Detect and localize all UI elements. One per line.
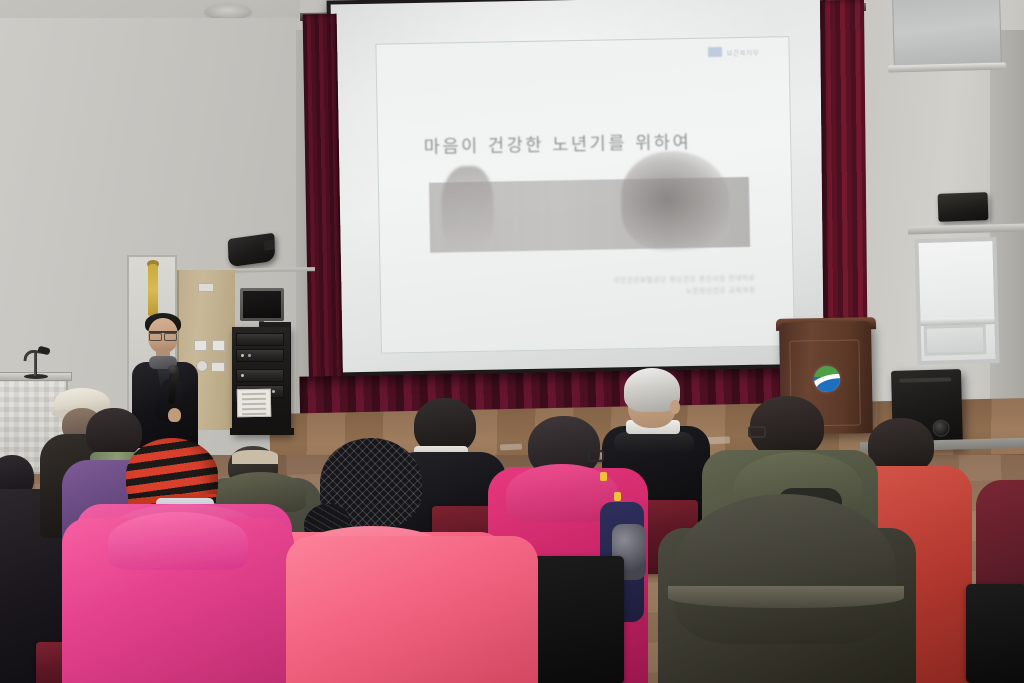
ceiling-light-icon bbox=[205, 5, 251, 18]
jacket-toggle bbox=[600, 472, 607, 481]
organization-emblem-icon bbox=[814, 366, 840, 392]
attendee-salmon-front bbox=[286, 536, 536, 683]
notice-sheet bbox=[237, 389, 271, 418]
attendee-pink-puffer bbox=[62, 506, 292, 683]
rack-base bbox=[230, 428, 294, 435]
slide-logo: 보건복지부 bbox=[707, 46, 759, 58]
curtain-left-panel bbox=[303, 14, 344, 407]
attendee-hood bbox=[108, 512, 248, 570]
slide-figure-right bbox=[620, 150, 731, 251]
slide-subtext: 국민건강보험공단 정신건강 증진사업 안내자료 노인정신건강 교육과정 bbox=[613, 272, 755, 299]
glasses-icon bbox=[149, 331, 177, 337]
window-lower-pane bbox=[924, 324, 987, 356]
slide-logo-text: 보건복지부 bbox=[726, 46, 759, 57]
roller-blind[interactable] bbox=[892, 0, 1002, 69]
glasses-icon bbox=[588, 450, 604, 462]
chair-front-dark[interactable] bbox=[966, 584, 1024, 683]
quilted-bucket-hat bbox=[674, 494, 896, 644]
speaker-grille-strip bbox=[899, 377, 951, 382]
standing-attendee-ear bbox=[670, 400, 680, 414]
slide-subtext-line-2: 노인정신건강 교육과정 bbox=[613, 284, 755, 299]
slide-logo-mark-icon bbox=[707, 47, 722, 58]
wall-monitor bbox=[240, 288, 284, 321]
attendee-quilted-hat bbox=[658, 494, 918, 683]
window bbox=[914, 237, 999, 365]
rack-indicator bbox=[241, 374, 244, 377]
projection-screen: 보건복지부 마음이 건강한 노년기를 위하여 국민건강보험공단 정신건강 증진사… bbox=[327, 0, 834, 383]
door-sign bbox=[198, 283, 214, 292]
alcove-yellow-object bbox=[148, 264, 158, 316]
av-rack bbox=[232, 327, 290, 435]
rack-indicator bbox=[241, 354, 244, 357]
monitor-screen bbox=[243, 291, 281, 318]
rack-indicator bbox=[248, 354, 251, 357]
speaker-bracket bbox=[263, 239, 274, 250]
presentation-slide: 보건복지부 마음이 건강한 노년기를 위하여 국민건강보험공단 정신건강 증진사… bbox=[376, 37, 795, 354]
glasses-icon bbox=[748, 426, 766, 438]
attendee-body bbox=[286, 536, 538, 683]
lecture-hall-photo: 보건복지부 마음이 건강한 노년기를 위하여 국민건강보험공단 정신건강 증진사… bbox=[0, 0, 1024, 683]
hat-brim bbox=[668, 586, 904, 608]
jacket-toggle bbox=[614, 492, 621, 501]
rack-unit[interactable] bbox=[236, 333, 284, 346]
wall-speaker-icon bbox=[938, 192, 989, 222]
screen-surface: 보건복지부 마음이 건강한 노년기를 위하여 국민건강보험공단 정신건강 증진사… bbox=[331, 0, 830, 372]
rack-indicator bbox=[272, 390, 275, 393]
slide-figure-left bbox=[441, 166, 494, 250]
slide-image-band bbox=[429, 177, 751, 253]
